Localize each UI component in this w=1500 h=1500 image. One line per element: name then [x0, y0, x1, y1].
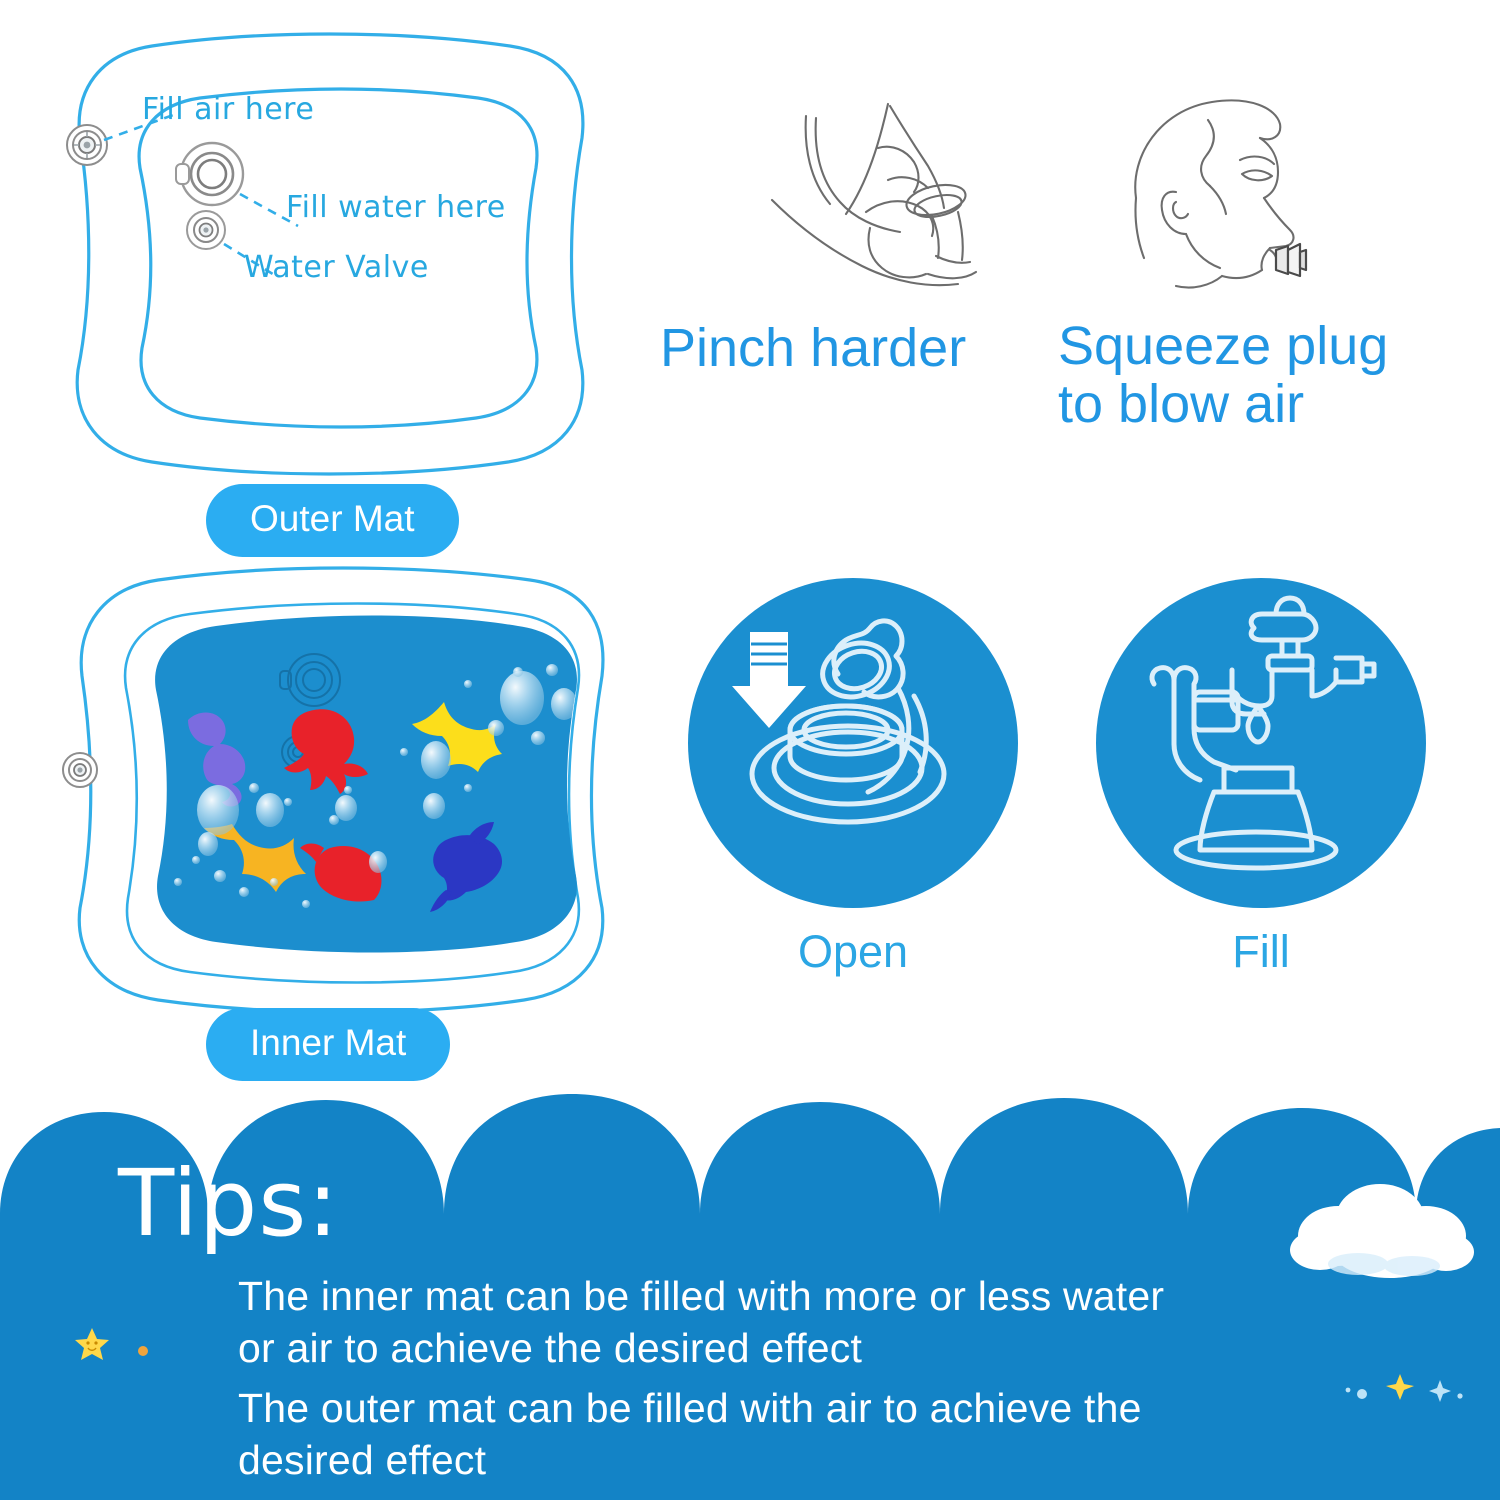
- tips-line-1: The inner mat can be filled with more or…: [238, 1270, 1164, 1375]
- tips-title: Tips:: [118, 1150, 339, 1257]
- badge-inner-mat: Inner Mat: [206, 1008, 450, 1081]
- star-smiley-icon: [74, 1326, 110, 1362]
- callout-water-valve: Water Valve: [244, 250, 429, 285]
- hand-pinching-valve-icon: [770, 96, 1020, 296]
- callout-fill-air-here: Fill air here: [142, 92, 314, 127]
- faucet-water-drop-icon: [1096, 578, 1426, 908]
- infographic-root: Fill air here Fill water here Water Valv…: [0, 0, 1500, 1500]
- water-fill-port-icon: [174, 138, 246, 210]
- air-valve-icon: [64, 122, 110, 168]
- step-fill: Fill: [1096, 578, 1426, 908]
- caption-pinch-harder: Pinch harder: [660, 320, 966, 378]
- inner-mat-diagram: [48, 552, 628, 1012]
- label-open: Open: [688, 926, 1018, 978]
- step-open: Open: [688, 578, 1018, 908]
- inner-mat-valve-icon: [63, 753, 97, 787]
- outer-mat-outline: [48, 18, 608, 478]
- badge-outer-mat: Outer Mat: [206, 484, 459, 557]
- label-fill: Fill: [1096, 926, 1426, 978]
- tips-banner: Tips: The inner mat can be filled with m…: [0, 1094, 1500, 1500]
- star-small-icon: [136, 1344, 150, 1358]
- callout-fill-water-here: Fill water here: [286, 190, 506, 225]
- valve-cap-open-icon: [688, 578, 1018, 908]
- caption-squeeze-plug: Squeeze plug to blow air: [1058, 318, 1388, 434]
- cloud-icon: [1280, 1178, 1480, 1288]
- inner-mat-graphic: [48, 552, 628, 1012]
- sparkle-icon: [1342, 1366, 1472, 1414]
- tips-line-2: The outer mat can be filled with air to …: [238, 1382, 1142, 1487]
- water-valve-icon: [184, 208, 228, 252]
- head-blowing-plug-icon: [1100, 94, 1370, 314]
- outer-mat-diagram: [48, 18, 608, 478]
